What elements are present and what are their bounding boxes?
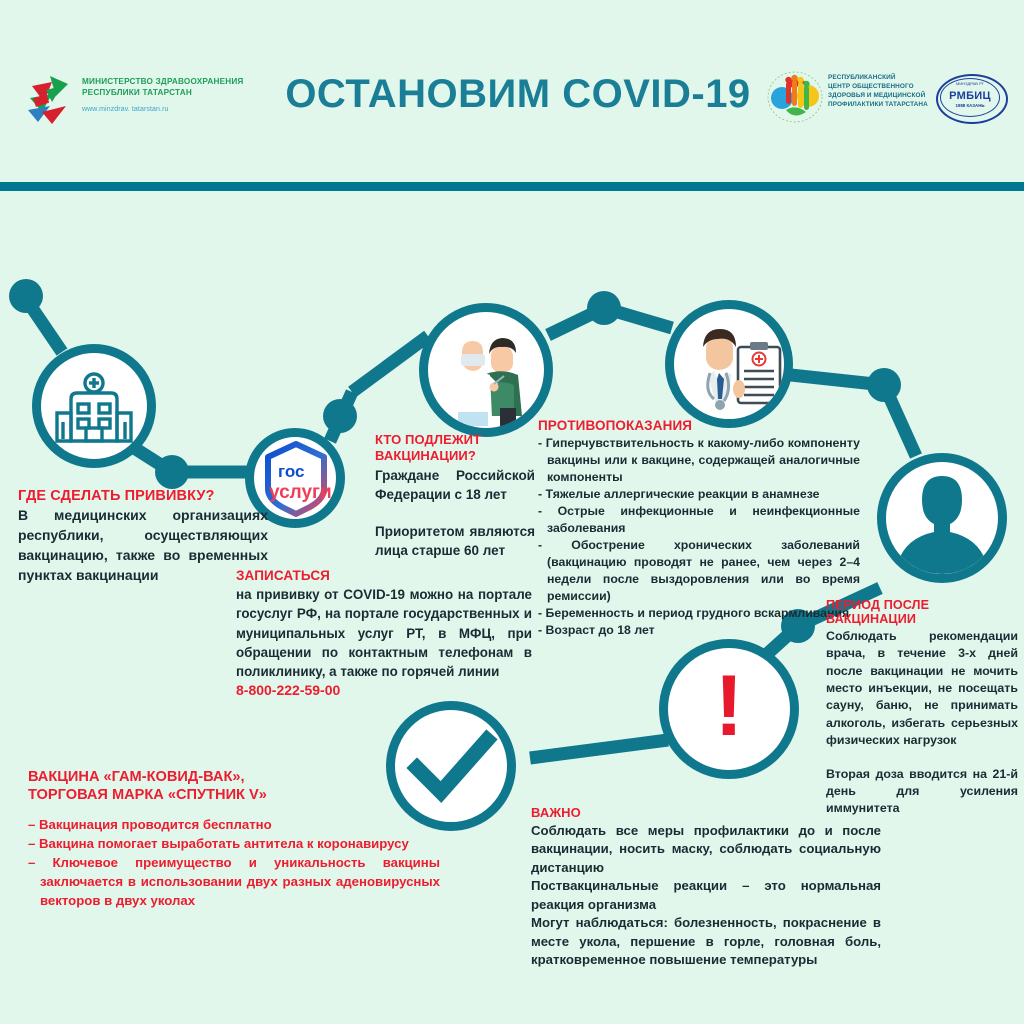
list-item: - Тяжелые аллергические реакции в анамне… (538, 486, 860, 503)
list-item: - Обострение хронических заболеваний (ва… (538, 537, 860, 605)
after-body-1: Соблюдать рекомендации врача, в течение … (826, 628, 1018, 750)
rmbic-top-text: МИНЗДРАВ РТ (936, 81, 1004, 86)
important-paragraph: Поствакцинальные реакции – это нормальна… (531, 877, 881, 914)
vaccination-scene-icon (428, 312, 544, 428)
vaccine-heading: ВАКЦИНА «ГАМ-КОВИД-ВАК», ТОРГОВАЯ МАРКА … (28, 768, 440, 805)
person-silhouette-icon (886, 462, 998, 574)
public-health-center-logo: РЕСПУБЛИКАНСКИЙ ЦЕНТР ОБЩЕСТВЕННОГО ЗДОР… (766, 68, 926, 130)
list-item: - Острые инфекционные и неинфекционные з… (538, 503, 860, 537)
list-item: - Беременность и период грудного вскармл… (538, 605, 860, 622)
list-item: - Возраст до 18 лет (538, 622, 860, 639)
important-paragraph: Соблюдать все меры профилактики до и пос… (531, 822, 881, 877)
contraindications-list: - Гиперчувствительность к какому-либо ко… (538, 435, 860, 639)
health-center-emblem-icon (766, 68, 824, 126)
block-signup: ЗАПИСАТЬСЯ на прививку от COVID-19 можно… (236, 568, 532, 698)
block-contraindications: ПРОТИВОПОКАЗАНИЯ - Гиперчувствительность… (538, 418, 860, 639)
vaccine-list: – Вакцинация проводится бесплатно – Вакц… (28, 815, 440, 911)
node-warning[interactable]: ! (659, 639, 799, 779)
node-doctor[interactable] (665, 300, 793, 428)
health-center-logo-text: РЕСПУБЛИКАНСКИЙ ЦЕНТР ОБЩЕСТВЕННОГО ЗДОР… (828, 73, 928, 109)
important-heading: ВАЖНО (531, 805, 881, 820)
list-item: – Вакцинация проводится бесплатно (28, 815, 440, 834)
ministry-logo: МИНИСТЕРСТВО ЗДРАВООХРАНЕНИЯ РЕСПУБЛИКИ … (22, 72, 252, 130)
where-heading: ГДЕ СДЕЛАТЬ ПРИВИВКУ? (18, 488, 268, 504)
exclamation-mark-icon: ! (668, 648, 790, 770)
poster-root: МИНИСТЕРСТВО ЗДРАВООХРАНЕНИЯ РЕСПУБЛИКИ … (0, 0, 1024, 1024)
hospital-icon (41, 353, 147, 459)
block-where-to-vaccinate: ГДЕ СДЕЛАТЬ ПРИВИВКУ? В медицинских орга… (18, 488, 268, 586)
block-vaccine: ВАКЦИНА «ГАМ-КОВИД-ВАК», ТОРГОВАЯ МАРКА … (28, 768, 440, 910)
block-after-vaccination: ПЕРИОД ПОСЛЕ ВАКЦИНАЦИИ Соблюдать рекоме… (826, 598, 1018, 818)
signup-heading: ЗАПИСАТЬСЯ (236, 568, 532, 583)
node-hospital[interactable] (32, 344, 156, 468)
header-divider (0, 182, 1024, 191)
who-body-2: Приоритетом являются лица старше 60 лет (375, 522, 535, 560)
tatarstan-emblem-icon (22, 72, 78, 130)
block-important: ВАЖНО Соблюдать все меры профилактики до… (531, 805, 881, 970)
who-heading: КТО ПОДЛЕЖИТ ВАКЦИНАЦИИ? (375, 432, 535, 464)
rmbic-logo: МИНЗДРАВ РТ РМБИЦ 1988 КАЗАНЬ (936, 70, 1006, 126)
rmbic-name-text: РМБИЦ (936, 90, 1004, 102)
list-item: - Гиперчувствительность к какому-либо ко… (538, 435, 860, 486)
where-body: В медицинских организациях республики, о… (18, 506, 268, 586)
who-body-1: Граждане Российской Федерации с 18 лет (375, 466, 535, 504)
signup-body: на прививку от COVID-19 можно на портале… (236, 585, 532, 681)
rmbic-sub-text: 1988 КАЗАНЬ (936, 103, 1004, 108)
doctor-clipboard-icon (674, 309, 786, 421)
ministry-logo-url: www.minzdrav. tatarstan.ru (82, 106, 169, 113)
ministry-logo-text: МИНИСТЕРСТВО ЗДРАВООХРАНЕНИЯ РЕСПУБЛИКИ … (82, 76, 252, 99)
block-who-is-eligible: КТО ПОДЛЕЖИТ ВАКЦИНАЦИИ? Граждане Россий… (375, 432, 535, 560)
page-title: ОСТАНОВИМ COVID-19 (268, 72, 768, 117)
node-vaccination[interactable] (419, 303, 553, 437)
contraindications-heading: ПРОТИВОПОКАЗАНИЯ (538, 418, 860, 433)
gosuslugi-text-bottom: услуги (269, 482, 332, 503)
list-item: – Вакцина помогает выработать антитела к… (28, 834, 440, 853)
node-person[interactable] (877, 453, 1007, 583)
list-item: – Ключевое преимущество и уникальность в… (28, 853, 440, 910)
signup-hotline[interactable]: 8-800-222-59-00 (236, 682, 532, 698)
after-heading: ПЕРИОД ПОСЛЕ ВАКЦИНАЦИИ (826, 598, 1018, 626)
important-paragraph: Могут наблюдаться: болезненность, покрас… (531, 914, 881, 969)
gosuslugi-text-top: гос (278, 462, 304, 481)
